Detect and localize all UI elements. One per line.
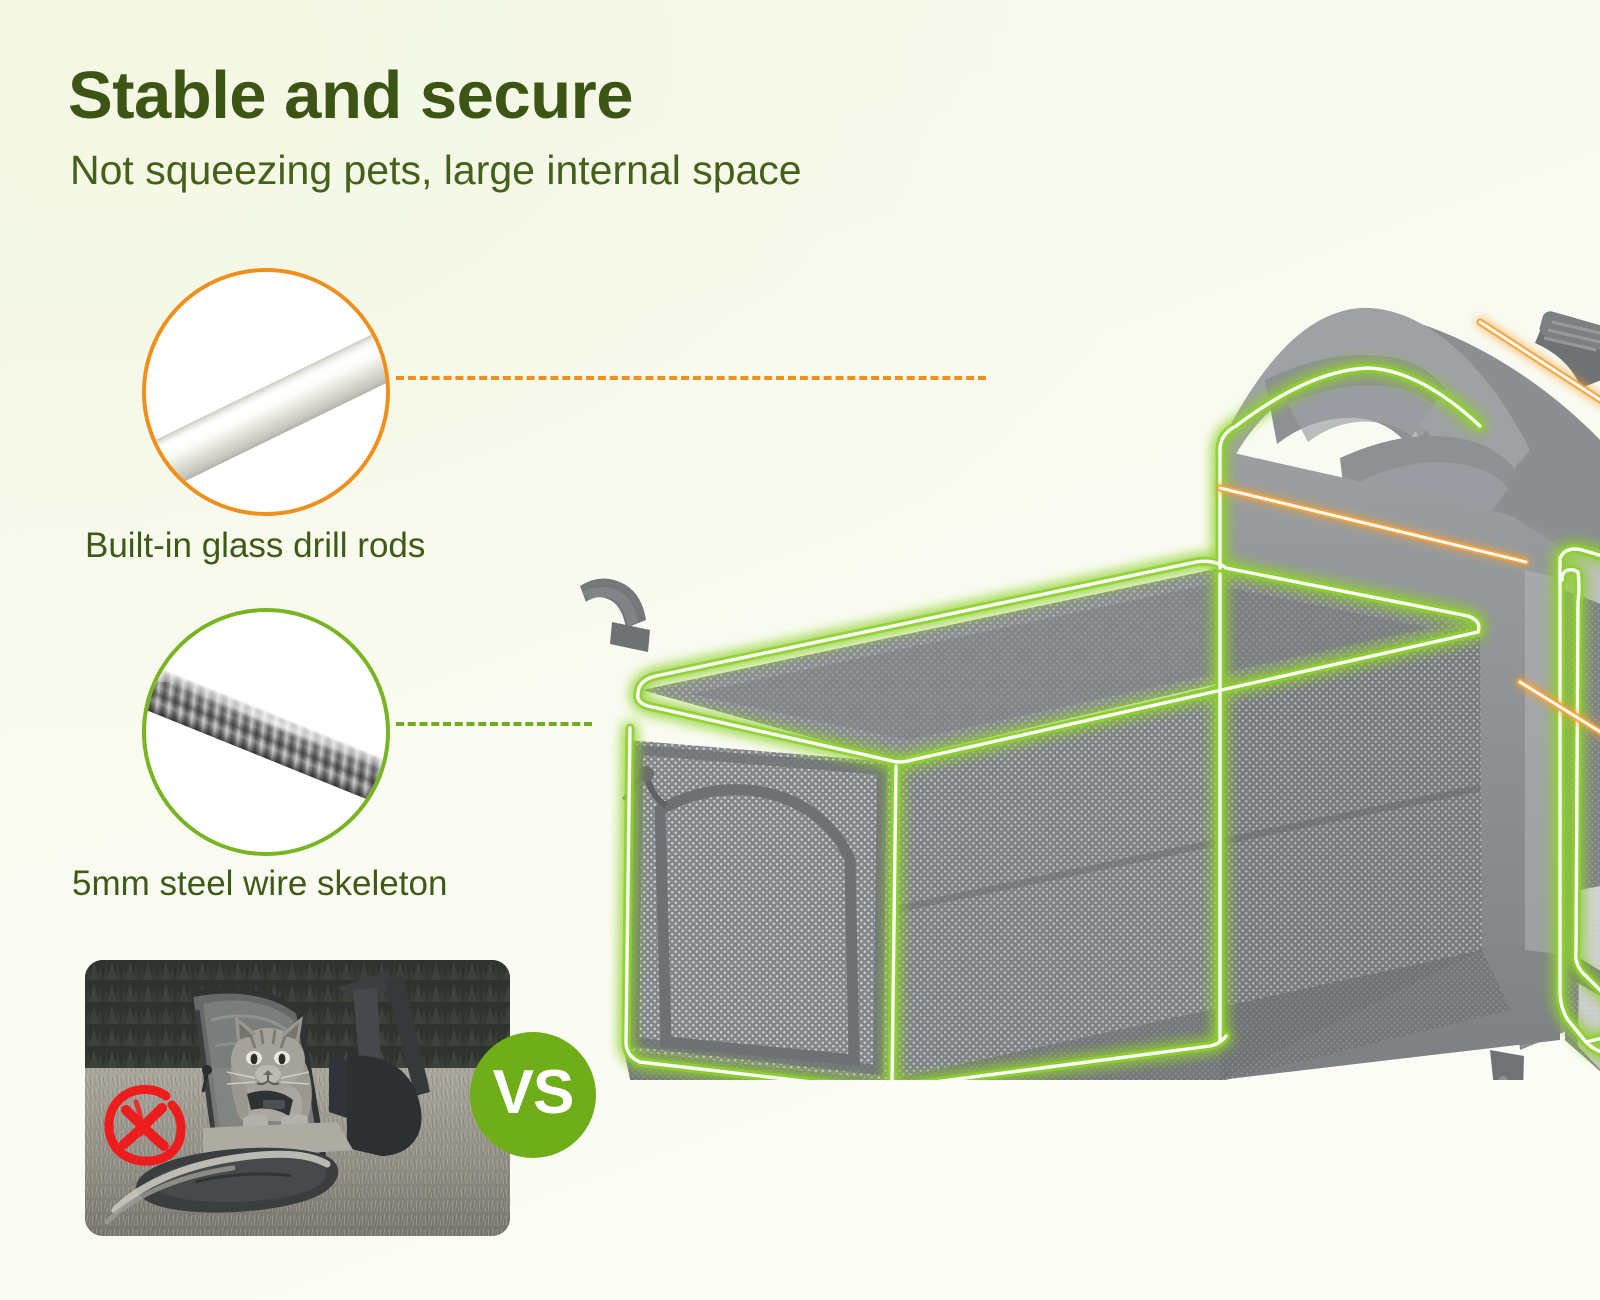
callout-steel-wire	[142, 608, 390, 856]
red-cross-circle-icon	[96, 1078, 192, 1174]
product-image-pet-carrier	[520, 250, 1600, 1080]
page-title: Stable and secure	[68, 62, 633, 129]
infographic-page: Stable and secure Not squeezing pets, la…	[0, 0, 1600, 1300]
glass-rod-icon	[146, 272, 386, 512]
page-subtitle: Not squeezing pets, large internal space	[70, 150, 802, 191]
callout-glass-rod	[142, 268, 390, 516]
callout-label-steel-wire: 5mm steel wire skeleton	[72, 866, 447, 901]
callout-label-glass-rod: Built-in glass drill rods	[85, 528, 425, 563]
vs-badge: VS	[470, 1032, 596, 1158]
vs-label: VS	[493, 1062, 574, 1124]
steel-wire-cable-icon	[146, 612, 386, 852]
